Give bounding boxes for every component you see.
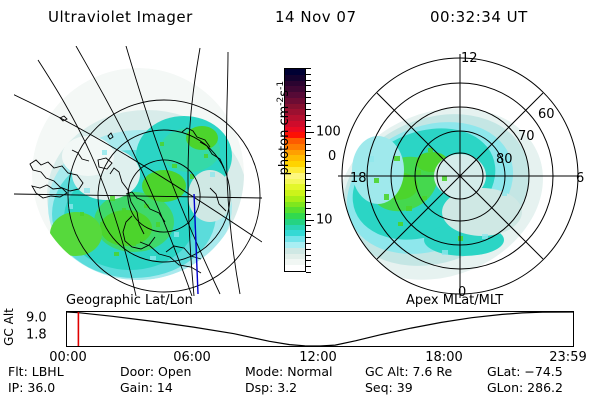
colorbar-minor-tick	[306, 185, 311, 186]
orbit-xtick-3: 18:00	[425, 350, 462, 365]
aurora-emission-geographic	[32, 68, 247, 282]
status-gain: Gain: 14	[120, 380, 173, 395]
status-flt: Flt: LBHL	[8, 364, 64, 379]
colorbar-units-sup2: -1	[276, 81, 286, 90]
mlt-label-18: 18	[350, 171, 367, 186]
colorbar-minor-tick	[306, 85, 311, 86]
colorbar-minor-tick	[306, 214, 311, 215]
orbit-xtick-0: 00:00	[49, 350, 86, 365]
colorbar-minor-tick	[306, 179, 311, 180]
mlat-label-70: 70	[518, 129, 535, 144]
orbit-ytick-bottom: 1.8	[26, 328, 47, 343]
colorbar-minor-tick	[306, 155, 311, 156]
colorbar-panel: 10010 photon cm-2s-1	[262, 60, 334, 295]
orbit-y-axis-label: GC Alt	[2, 302, 16, 352]
colorbar-minor-tick	[306, 272, 311, 273]
apex-polar-grid	[338, 54, 582, 298]
observation-date: 14 Nov 07	[275, 8, 357, 26]
colorbar-major-tick	[306, 220, 314, 221]
orbit-ytick-top: 9.0	[26, 311, 47, 326]
aurora-oval-apex	[311, 78, 569, 309]
colorbar-minor-tick	[306, 255, 311, 256]
colorbar-minor-tick	[306, 115, 311, 116]
colorbar-minor-tick	[306, 161, 311, 162]
orbit-altitude-panel[interactable]: GC Alt 9.0 1.8 00:00 06:00 12:00 18:00 2…	[0, 306, 600, 360]
colorbar-units-sup1: -2	[276, 97, 286, 106]
colorbar-minor-tick	[306, 196, 311, 197]
colorbar-units-label: photon cm-2s-1	[276, 58, 292, 198]
colorbar-units-main: photon cm	[277, 106, 292, 176]
colorbar-major-tick	[306, 132, 314, 133]
colorbar-minor-tick	[306, 74, 311, 75]
mlt-label-6: 6	[576, 171, 584, 186]
status-dsp: Dsp: 3.2	[245, 380, 297, 395]
colorbar-minor-tick	[306, 249, 311, 250]
colorbar-minor-tick	[306, 109, 311, 110]
status-mode: Mode: Normal	[245, 364, 332, 379]
status-ip: IP: 36.0	[8, 380, 55, 395]
colorbar-minor-tick	[306, 202, 311, 203]
colorbar-minor-tick	[306, 237, 311, 238]
mlat-label-80: 80	[496, 152, 513, 167]
colorbar-minor-tick	[306, 173, 311, 174]
geographic-plot	[14, 46, 262, 296]
colorbar-minor-tick	[306, 260, 311, 261]
status-seq: Seq: 39	[365, 380, 413, 395]
apex-image-panel[interactable]: 12 18 6 0 60 70 80 0	[332, 44, 588, 300]
colorbar-minor-tick	[306, 225, 311, 226]
colorbar-axis: 10010	[306, 68, 334, 272]
colorbar-minor-tick	[306, 144, 311, 145]
colorbar-minor-tick	[306, 243, 311, 244]
colorbar-minor-tick	[306, 208, 311, 209]
colorbar-minor-tick	[306, 167, 311, 168]
mlat-label-60: 60	[538, 107, 555, 122]
instrument-title: Ultraviolet Imager	[48, 8, 193, 26]
observation-time: 00:32:34 UT	[430, 8, 528, 26]
status-door: Door: Open	[120, 364, 191, 379]
colorbar-tick-label-1: 10	[316, 213, 333, 226]
apex-edge-label: 0	[328, 149, 336, 164]
colorbar-minor-tick	[306, 120, 311, 121]
colorbar-minor-tick	[306, 103, 311, 104]
orbit-xtick-4: 23:59	[549, 350, 586, 365]
colorbar-minor-tick	[306, 126, 311, 127]
orbit-xtick-1: 06:00	[173, 350, 210, 365]
colorbar-minor-tick	[306, 190, 311, 191]
colorbar-minor-tick	[306, 91, 311, 92]
colorbar-minor-tick	[306, 150, 311, 151]
status-bar: Flt: LBHL IP: 36.0 Door: Open Gain: 14 M…	[0, 364, 600, 398]
colorbar-minor-tick	[306, 138, 311, 139]
colorbar-minor-tick	[306, 80, 311, 81]
colorbar-minor-tick	[306, 97, 311, 98]
colorbar-minor-tick	[306, 68, 311, 69]
mlt-label-12: 12	[461, 51, 478, 66]
colorbar-units-mid: s	[277, 90, 292, 97]
geographic-image-panel[interactable]	[14, 46, 262, 296]
status-glon: GLon: 286.2	[487, 380, 563, 395]
colorbar-minor-tick	[306, 266, 311, 267]
status-glat: GLat: −74.5	[487, 364, 563, 379]
header-bar: Ultraviolet Imager 14 Nov 07 00:32:34 UT	[0, 8, 600, 30]
orbit-altitude-curve	[67, 312, 573, 346]
status-gcalt: GC Alt: 7.6 Re	[365, 364, 452, 379]
orbit-xtick-2: 12:00	[299, 350, 336, 365]
colorbar-minor-tick	[306, 231, 311, 232]
apex-polar-plot: 12 18 6 0 60 70 80 0	[332, 44, 588, 300]
colorbar-swatch	[285, 265, 305, 271]
orbit-plot-box	[66, 311, 574, 347]
